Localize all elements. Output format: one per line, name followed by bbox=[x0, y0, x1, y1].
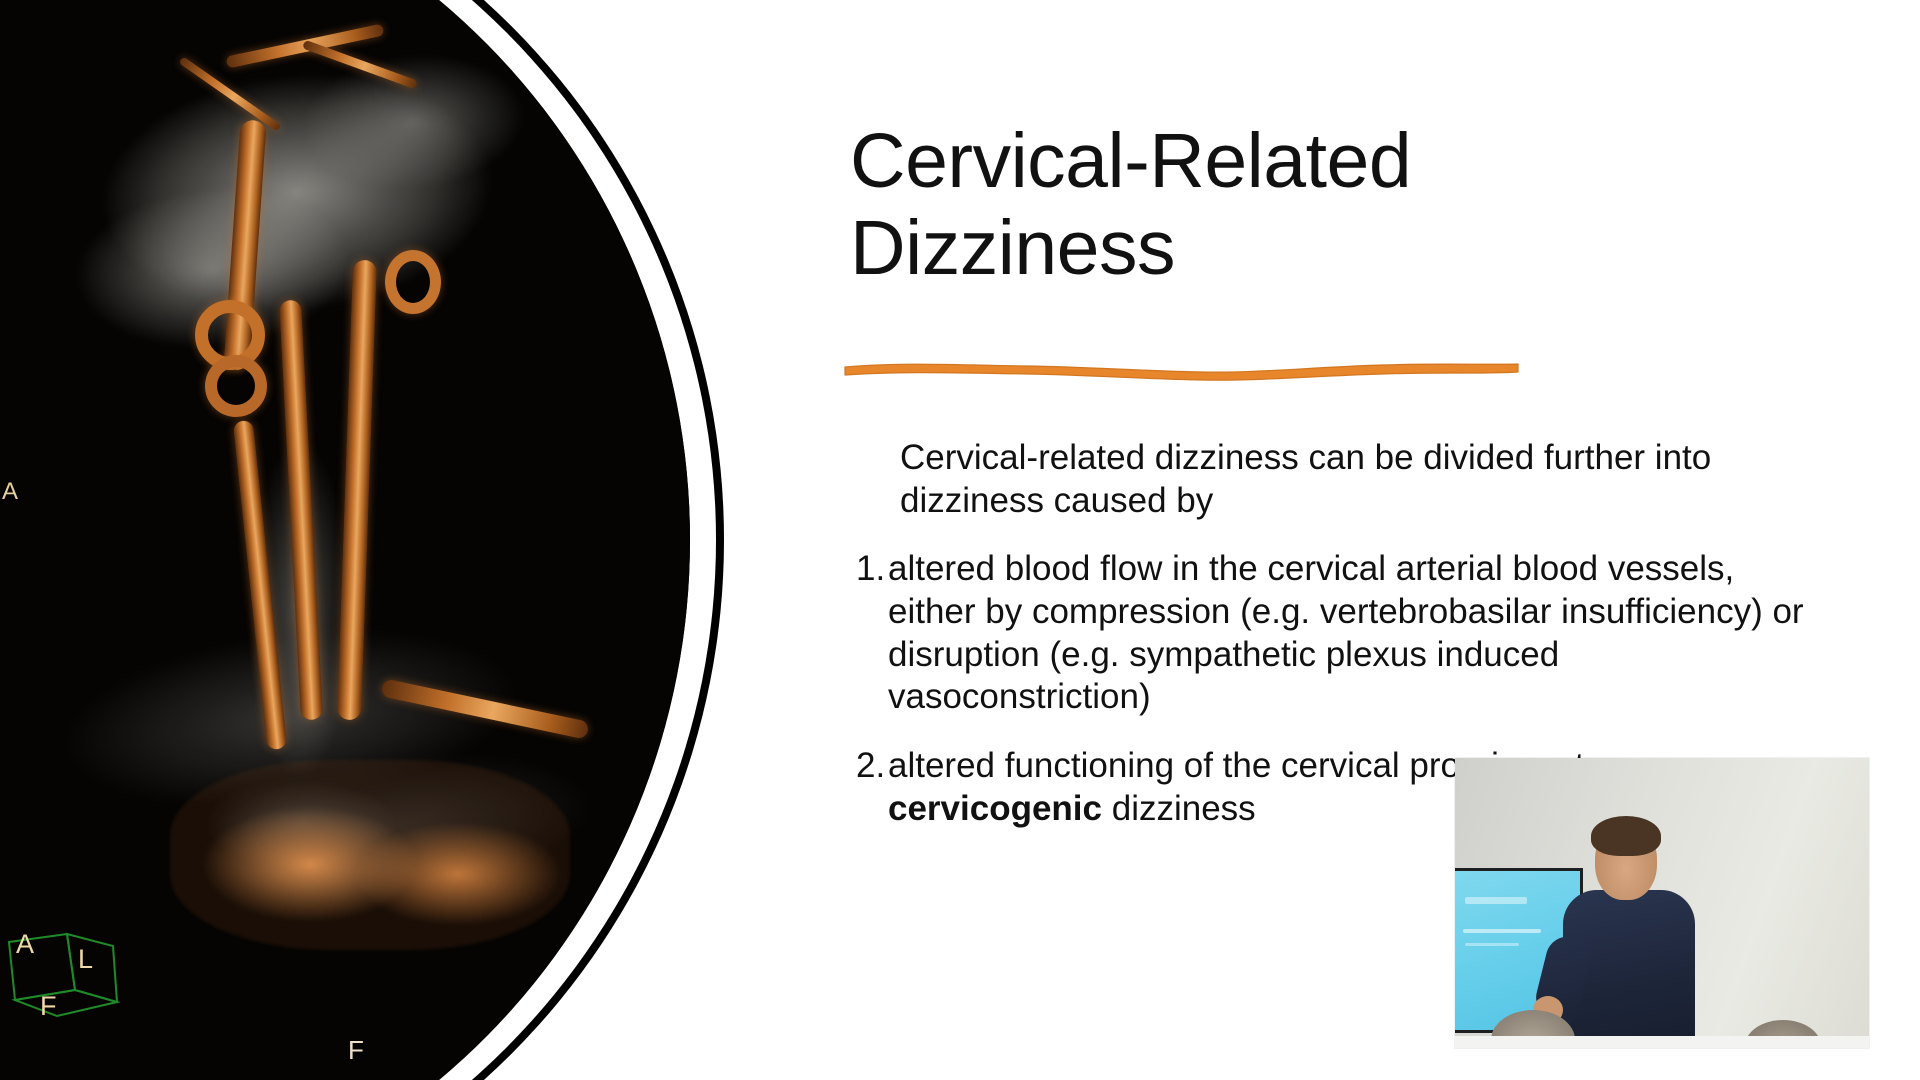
screen-text-line bbox=[1465, 943, 1519, 946]
list-item-text-bold: cervicogenic bbox=[888, 789, 1102, 828]
list-item-text-tail: dizziness bbox=[1102, 789, 1256, 828]
screen-text-line bbox=[1463, 929, 1541, 933]
screen-text-line bbox=[1465, 897, 1527, 904]
orientation-label-anterior: A bbox=[16, 929, 34, 960]
list-marker: 1. bbox=[856, 548, 888, 719]
media-panel: A L F F A bbox=[0, 0, 760, 1080]
video-foreground-strip bbox=[1455, 1036, 1869, 1048]
list-item: 1. altered blood flow in the cervical ar… bbox=[856, 548, 1816, 719]
title-line-2: Dizziness bbox=[850, 205, 1570, 292]
page-title: Cervical-Related Dizziness bbox=[850, 118, 1570, 292]
presenter-hair bbox=[1591, 816, 1661, 856]
title-divider bbox=[842, 358, 1522, 384]
orientation-label-bottom: F bbox=[348, 1035, 364, 1066]
intro-paragraph: Cervical-related dizziness can be divide… bbox=[900, 437, 1830, 522]
title-line-1: Cervical-Related bbox=[850, 118, 1570, 205]
vessel-loop bbox=[385, 250, 441, 314]
orientation-label-foot: F bbox=[40, 991, 57, 1022]
vessel-loop bbox=[205, 355, 267, 417]
aortic-arch-render bbox=[170, 760, 570, 950]
ct-angiogram-image: A L F F A bbox=[0, 0, 760, 1080]
presenter-video-overlay[interactable] bbox=[1455, 758, 1869, 1048]
list-item-text: altered blood flow in the cervical arter… bbox=[888, 548, 1816, 719]
list-marker: 2. bbox=[856, 745, 888, 830]
orientation-label-left-edge: A bbox=[2, 478, 18, 506]
orientation-label-lateral: L bbox=[78, 944, 93, 975]
